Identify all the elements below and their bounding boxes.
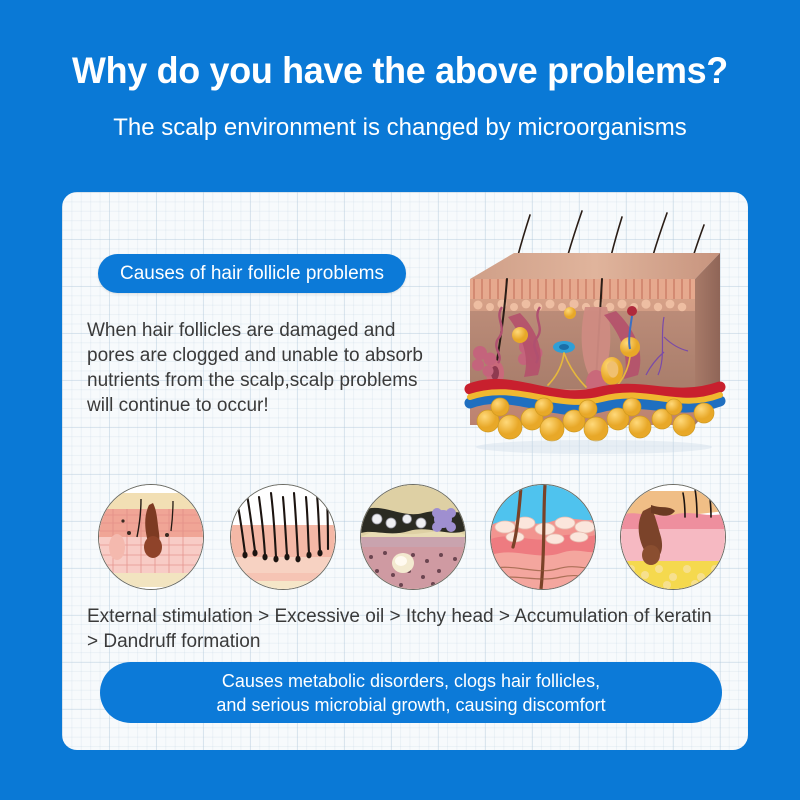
- circle-dandruff-formation: [620, 484, 726, 590]
- promo-infographic-page: Why do you have the above problems? The …: [0, 0, 800, 800]
- circle-itchy-head: [360, 484, 466, 590]
- page-subtitle: The scalp environment is changed by micr…: [0, 114, 800, 142]
- badge-label: Causes of hair follicle problems: [120, 263, 384, 285]
- skin-cross-section-illustration: [452, 207, 737, 457]
- condition-circles-row: [72, 484, 738, 592]
- explanation-paragraph: When hair follicles are damaged and pore…: [87, 318, 447, 418]
- conclusion-line-2: and serious microbial growth, causing di…: [216, 693, 605, 717]
- causal-chain-text: External stimulation > Excessive oil > I…: [87, 604, 727, 654]
- conclusion-line-1: Causes metabolic disorders, clogs hair f…: [222, 669, 600, 693]
- content-card: Causes of hair follicle problems When ha…: [62, 192, 748, 750]
- badge-causes-of-hair-follicle-problems: Causes of hair follicle problems: [98, 254, 406, 293]
- circle-accumulation-of-keratin: [490, 484, 596, 590]
- conclusion-banner: Causes metabolic disorders, clogs hair f…: [100, 662, 722, 723]
- page-title: Why do you have the above problems?: [12, 50, 788, 92]
- circle-excessive-oil: [230, 484, 336, 590]
- circle-external-stimulation: [98, 484, 204, 590]
